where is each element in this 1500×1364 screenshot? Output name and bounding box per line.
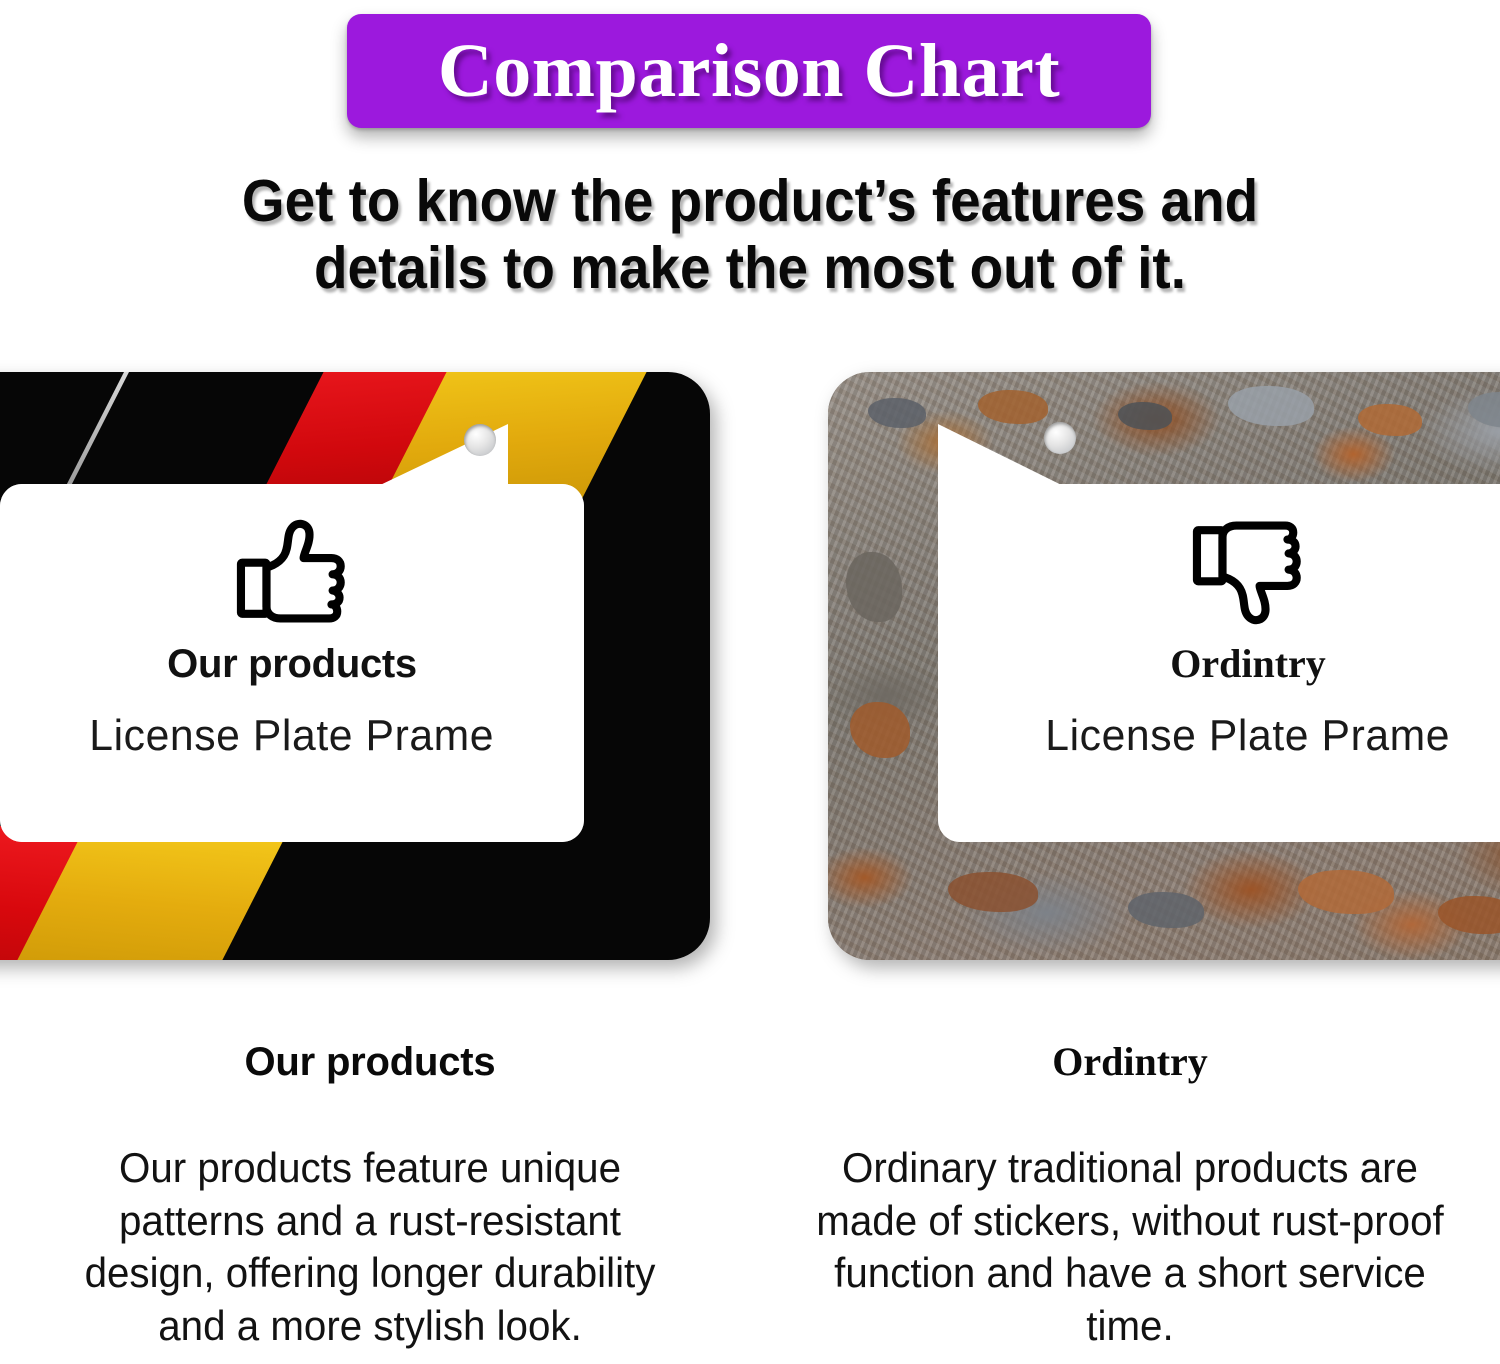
our-product-frame: Our products License Plate Prame [0, 372, 710, 960]
product-frames-row: Our products License Plate Prame [0, 372, 1500, 960]
plate-heading-right: Ordintry [1170, 644, 1326, 684]
bottom-body-right: Ordinary traditional products are made o… [770, 1142, 1490, 1352]
bottom-title-right: Ordintry [755, 1042, 1500, 1082]
plate-window-content-area: Ordintry License Plate Prame [938, 484, 1500, 842]
bottom-body-left: Our products feature unique patterns and… [10, 1142, 730, 1352]
comparison-descriptions: Our products Our products feature unique… [0, 1020, 1500, 1364]
title-banner: Comparison Chart [347, 14, 1151, 128]
thumbs-up-icon [234, 514, 350, 630]
plate-window-content-area: Our products License Plate Prame [0, 484, 584, 842]
our-product-description: Our products Our products feature unique… [0, 1020, 745, 1352]
ordinary-product-description: Ordintry Ordinary traditional products a… [755, 1020, 1500, 1352]
comparison-chart-page: Comparison Chart Get to know the product… [0, 0, 1500, 1364]
title-banner-background: Comparison Chart [347, 14, 1151, 128]
plate-heading-left: Our products [167, 644, 417, 684]
plate-subheading-right: License Plate Prame [1046, 714, 1451, 758]
subtitle-line-1: Get to know the product’s features and [53, 168, 1448, 235]
thumbs-down-icon [1190, 514, 1306, 630]
plate-subheading-left: License Plate Prame [90, 714, 495, 758]
page-title: Comparison Chart [438, 33, 1060, 109]
ordinary-product-frame: Ordintry License Plate Prame [828, 372, 1500, 960]
subtitle: Get to know the product’s features and d… [53, 168, 1448, 301]
mounting-hole [464, 424, 496, 456]
subtitle-line-2: details to make the most out of it. [53, 235, 1448, 302]
bottom-title-left: Our products [0, 1042, 745, 1082]
mounting-hole [1044, 422, 1076, 454]
